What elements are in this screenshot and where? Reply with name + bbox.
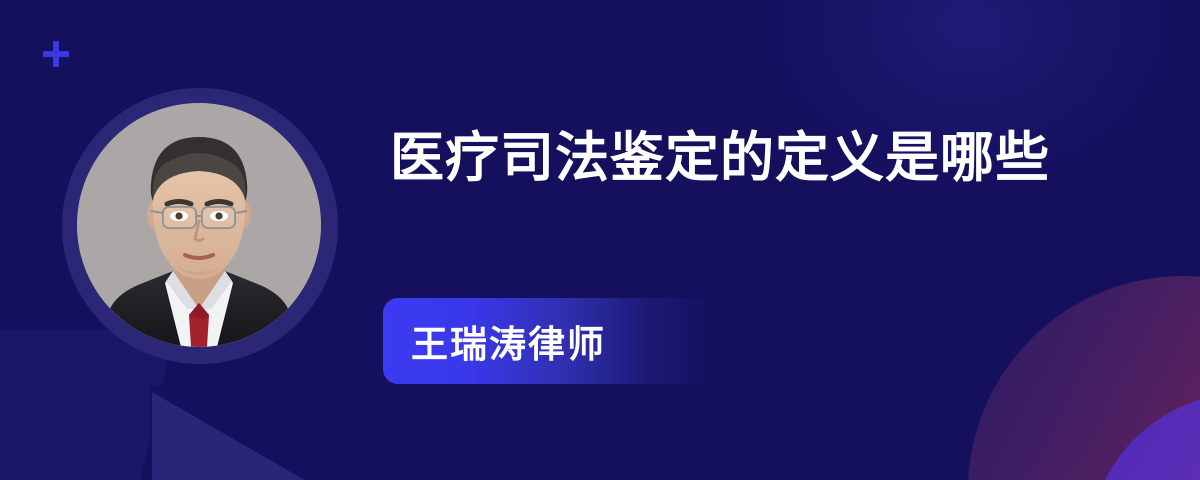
author-name: 王瑞涛律师	[411, 298, 606, 384]
plus-icon	[43, 41, 69, 67]
promo-banner: 医疗司法鉴定的定义是哪些 王瑞涛律师	[0, 0, 1200, 480]
avatar	[77, 103, 321, 347]
text-content: 医疗司法鉴定的定义是哪些	[390, 120, 1090, 196]
diagonal-wedge-shape	[152, 392, 412, 480]
page-title: 医疗司法鉴定的定义是哪些	[390, 120, 1080, 196]
author-badge[interactable]: 王瑞涛律师	[383, 298, 713, 384]
